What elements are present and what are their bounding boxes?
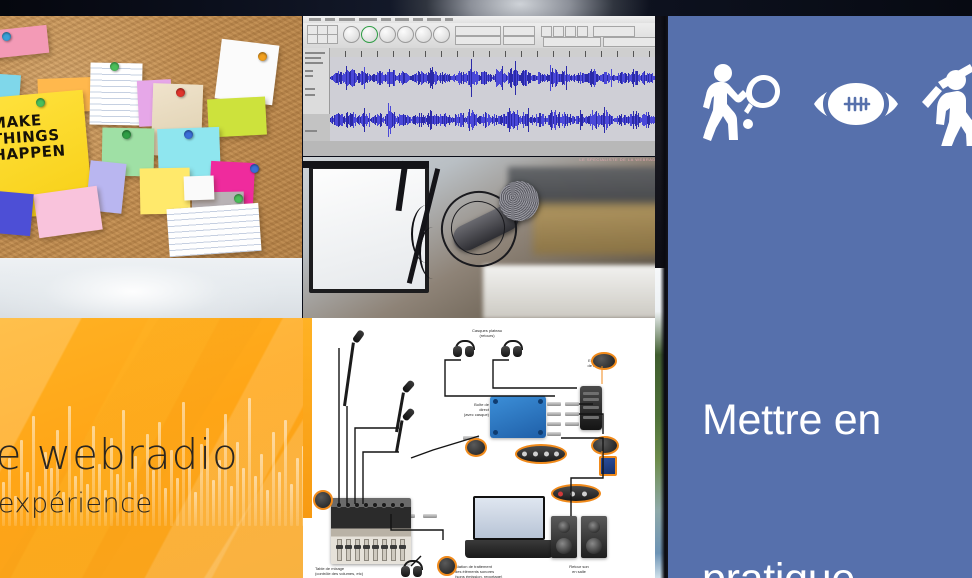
baseball-batter-icon <box>916 60 972 146</box>
tennis-player-icon <box>700 62 786 144</box>
slide-canvas: Make Things Happen <box>0 0 972 578</box>
right-blue-panel: Mettre en pratique (Savoir-faire) <box>668 16 972 578</box>
audacity-menubar <box>303 16 663 23</box>
top-background-strip <box>0 0 972 16</box>
audacity-waveform-left <box>330 57 663 100</box>
corkboard-photo: Make Things Happen <box>0 16 302 258</box>
diagram-wires <box>303 318 663 578</box>
studio-microphone-photo: LE SPECIALISTE DE LA WEBRADIO <box>303 157 663 318</box>
audacity-screenshot <box>303 16 663 156</box>
audacity-toolbar <box>303 23 663 49</box>
audacity-empty-area <box>303 141 663 156</box>
panel-edge-shadow <box>660 16 668 578</box>
webradio-subtitle: l'expérience <box>0 488 342 519</box>
audacity-waveform-right <box>330 99 663 142</box>
title-line-2: pratique <box>702 553 972 578</box>
audacity-track-control-panel <box>303 48 330 114</box>
white-divider-band <box>0 258 302 318</box>
page-title: Mettre en pratique (Savoir-faire) <box>702 288 972 578</box>
title-line-1: Mettre en <box>702 394 972 447</box>
radio-studio-wiring-diagram: Casques plateau (retours) Boîte de direc… <box>303 318 663 578</box>
corkboard-note-text: Make Things Happen <box>0 109 94 164</box>
microphone-watermark: LE SPECIALISTE DE LA WEBRADIO <box>579 157 661 162</box>
webradio-title: ne webradio <box>0 430 328 479</box>
football-icon <box>814 82 898 126</box>
sports-icons-row <box>668 60 972 146</box>
